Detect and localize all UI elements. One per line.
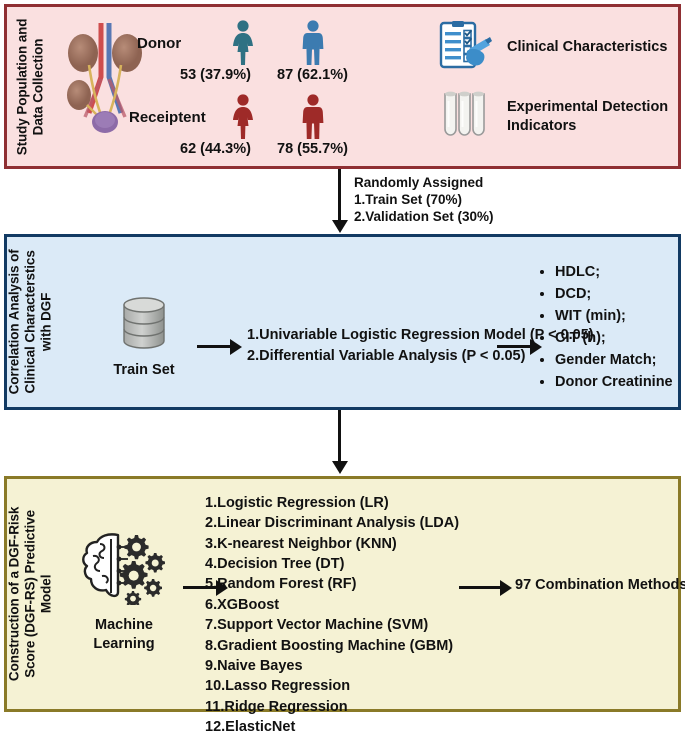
population-grid: Donor 53 (37.9%) 87 (62.1%) Receiptent xyxy=(129,19,419,167)
arrow-methods-to-result xyxy=(459,586,501,589)
arrow-study-to-correlation xyxy=(338,169,341,221)
machine-learning-caption: Machine Learning xyxy=(69,616,179,654)
randomize-note-line: 1.Train Set (70%) xyxy=(354,191,494,208)
row-female-count: 53 (37.9%) xyxy=(180,67,251,83)
variable-item: DCD; xyxy=(555,283,685,305)
correlation-analysis-panel: Correlation Analysis ofClinical Characte… xyxy=(4,234,681,410)
ml-method-item: 2.Linear Discriminant Analysis (LDA) xyxy=(205,513,459,533)
variable-item: WIT (min); xyxy=(555,305,685,327)
study-population-panel: Study Population andData Collection xyxy=(4,4,681,169)
ml-method-item: 3.K-nearest Neighbor (KNN) xyxy=(205,534,459,554)
row-role-label: Receiptent xyxy=(129,109,206,126)
ml-method-item: 12.ElasticNet xyxy=(205,717,459,737)
population-row-recipient: Receiptent 62 (44.3%) 78 (55.7%) xyxy=(129,93,419,167)
ml-method-item: 1.Logistic Regression (LR) xyxy=(205,493,459,513)
variable-item: HDLC; xyxy=(555,261,685,283)
row-male-count: 87 (62.1%) xyxy=(277,67,348,83)
ml-method-item: 8.Gradient Boosting Machine (GBM) xyxy=(205,636,459,656)
study-panel-side-label: Study Population andData Collection xyxy=(7,7,53,166)
selected-variables-list: HDLC; DCD; WIT (min); CIT (h); Gender Ma… xyxy=(539,261,685,393)
ml-method-item: 11.Ridge Regression xyxy=(205,697,459,717)
ml-method-item: 6.XGBoost xyxy=(205,595,459,615)
database-cylinder-icon xyxy=(118,340,170,357)
randomly-assigned-note: Randomly Assigned 1.Train Set (70%) 2.Va… xyxy=(354,174,494,225)
machine-learning-block: Machine Learning xyxy=(69,531,179,654)
data-item-clinical-characteristics: Clinical Characteristics xyxy=(439,21,667,74)
female-figure-icon xyxy=(229,93,257,144)
ml-methods-list: 1.Logistic Regression (LR) 2.Linear Disc… xyxy=(205,493,459,737)
data-item-experimental-indicators: Experimental Detection Indicators xyxy=(439,89,675,144)
arrow-correlation-to-model xyxy=(338,410,341,462)
correlation-panel-side-label-text: Correlation Analysis ofClinical Characte… xyxy=(6,250,54,395)
male-figure-icon xyxy=(299,19,327,70)
train-set-block: Train Set xyxy=(101,295,187,378)
population-row-donor: Donor 53 (37.9%) 87 (62.1%) xyxy=(129,19,419,93)
train-set-caption: Train Set xyxy=(101,362,187,378)
ml-method-item: 9.Naive Bayes xyxy=(205,656,459,676)
row-role-label: Donor xyxy=(137,35,181,52)
study-panel-side-label-text: Study Population andData Collection xyxy=(14,18,46,155)
male-figure-icon xyxy=(299,93,327,144)
randomize-note-line: Randomly Assigned xyxy=(354,174,494,191)
randomize-note-line: 2.Validation Set (30%) xyxy=(354,208,494,225)
variable-item: CIT (h); xyxy=(555,327,685,349)
clipboard-checklist-hand-icon xyxy=(439,21,493,74)
row-female-count: 62 (44.3%) xyxy=(180,141,251,157)
model-construction-panel: Construction of a DGF-RiskScore (DGF-RS)… xyxy=(4,476,681,712)
ml-method-item: 4.Decision Tree (DT) xyxy=(205,554,459,574)
model-panel-side-label-text: Construction of a DGF-RiskScore (DGF-RS)… xyxy=(6,507,54,681)
variable-item: Gender Match; xyxy=(555,349,685,371)
data-item-label: Experimental Detection Indicators xyxy=(507,98,675,134)
female-figure-icon xyxy=(229,19,257,70)
ml-method-item: 5.Random Forest (RF) xyxy=(205,574,459,594)
ml-method-item: 10.Lasso Regression xyxy=(205,676,459,696)
model-panel-side-label: Construction of a DGF-RiskScore (DGF-RS)… xyxy=(7,479,53,709)
test-tubes-icon xyxy=(439,89,493,144)
arrow-trainset-to-steps xyxy=(197,345,231,348)
row-male-count: 78 (55.7%) xyxy=(277,141,348,157)
arrow-steps-to-variables xyxy=(497,345,531,348)
combination-methods-result: 97 Combination Methods xyxy=(515,577,685,593)
correlation-panel-side-label: Correlation Analysis ofClinical Characte… xyxy=(7,237,53,407)
brain-gears-icon xyxy=(78,592,170,609)
ml-method-item: 7.Support Vector Machine (SVM) xyxy=(205,615,459,635)
data-item-label: Clinical Characteristics xyxy=(507,38,667,56)
variable-item: Donor Creatinine xyxy=(555,371,685,393)
